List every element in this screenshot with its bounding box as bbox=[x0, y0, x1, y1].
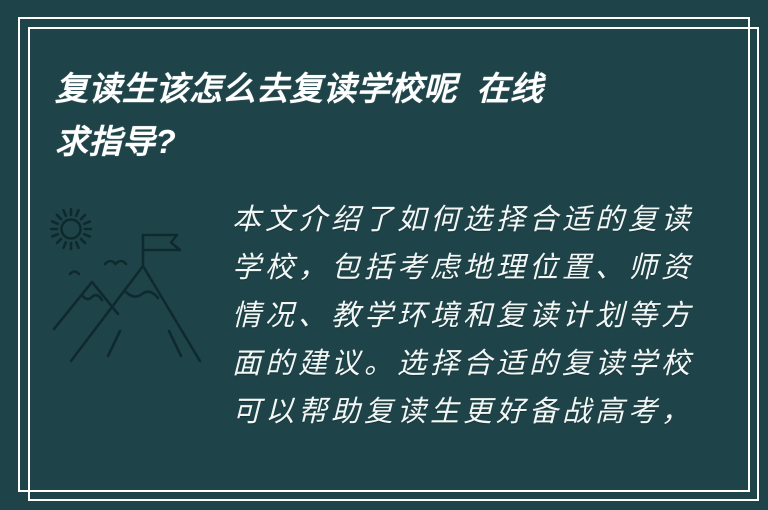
body-line-4: 面的建议。选择合适的复读学校 bbox=[232, 340, 728, 388]
mountains-with-flag-illustration bbox=[38, 196, 224, 386]
bird-icon bbox=[116, 261, 127, 264]
bird-icon bbox=[105, 261, 116, 264]
poster-canvas: 复读生该怎么去复读学校呢 在线 求指导? bbox=[0, 0, 768, 510]
mountain-large-icon bbox=[71, 266, 200, 361]
body-line-2: 学校，包括考虑地理位置、师资 bbox=[232, 244, 728, 292]
article-summary: 本文介绍了如何选择合适的复读 学校，包括考虑地理位置、师资 情况、教学环境和复读… bbox=[232, 190, 728, 436]
title-line-2: 求指导? bbox=[55, 115, 695, 168]
body-line-5: 可以帮助复读生更好备战高考， bbox=[232, 388, 728, 436]
flag-icon bbox=[143, 235, 180, 264]
page-title: 复读生该怎么去复读学校呢 在线 求指导? bbox=[55, 62, 695, 168]
mountain-small-icon bbox=[54, 282, 118, 329]
body-line-3: 情况、教学环境和复读计划等方 bbox=[232, 292, 728, 340]
body-line-1: 本文介绍了如何选择合适的复读 bbox=[232, 196, 728, 244]
content-area: 本文介绍了如何选择合适的复读 学校，包括考虑地理位置、师资 情况、教学环境和复读… bbox=[38, 190, 728, 436]
title-line-1: 复读生该怎么去复读学校呢 在线 bbox=[55, 62, 695, 115]
sun-icon bbox=[51, 209, 91, 249]
bird-icon bbox=[70, 272, 79, 275]
